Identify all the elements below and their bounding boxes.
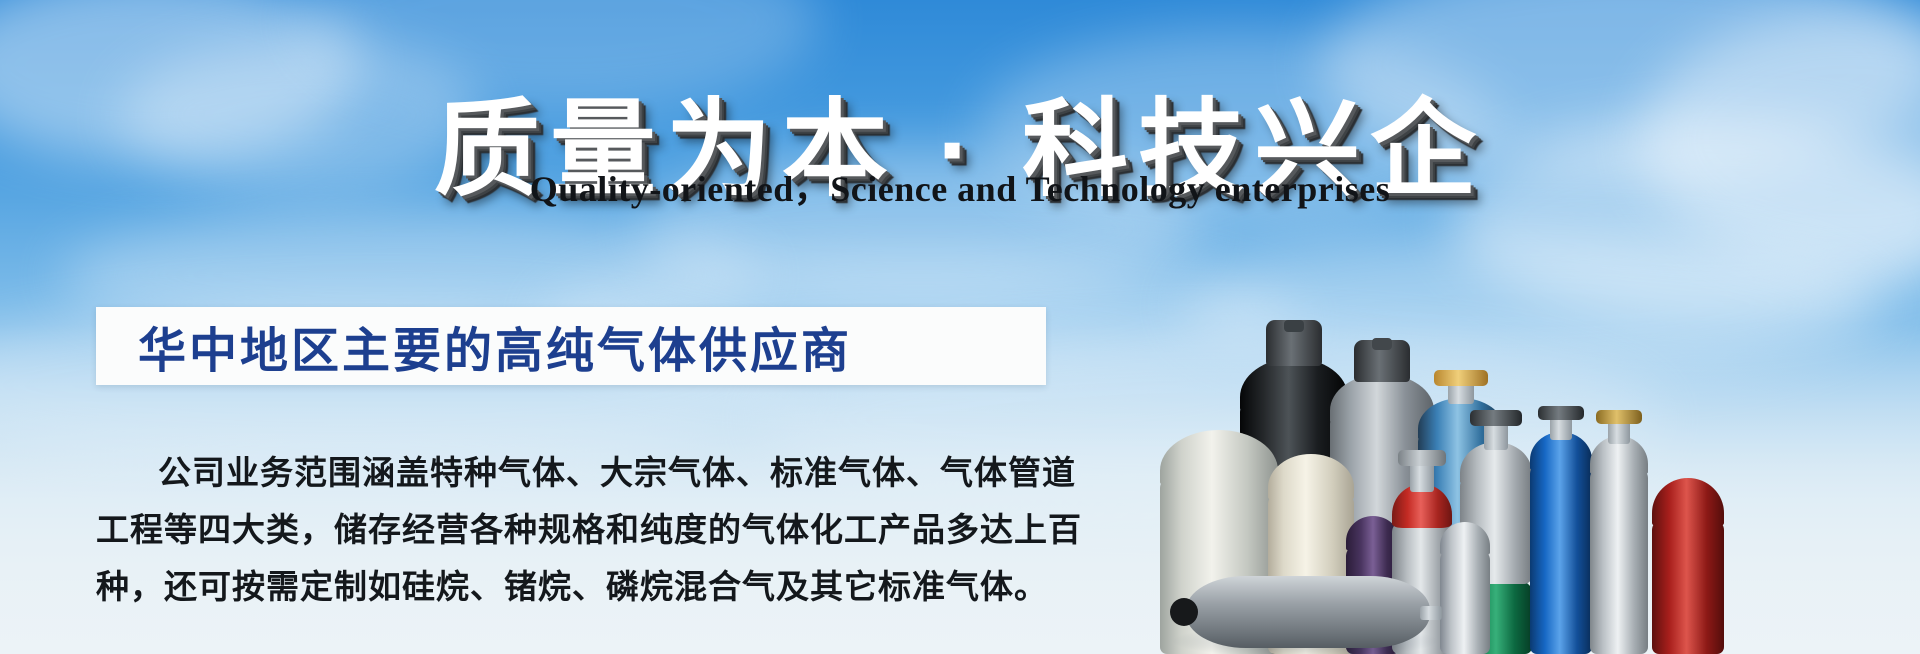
paragraph-line: 公司业务范围涵盖特种气体、大宗气体、标准气体、气体管道: [96, 446, 1056, 503]
dark-red-cylinder: [1652, 472, 1724, 654]
silver-aluminium-cylinder: [1590, 410, 1648, 654]
blue-bright-cylinder: [1530, 404, 1592, 654]
paragraph-line: 工程等四大类，储存经营各种规格和纯度的气体化工产品多达上百: [96, 503, 1056, 560]
description-paragraph: 公司业务范围涵盖特种气体、大宗气体、标准气体、气体管道 工程等四大类，储存经营各…: [96, 446, 1056, 617]
horizontal-grey-tank: [1170, 564, 1440, 654]
promotional-banner: 质量为本 · 科技兴企 Quality-oriented，Science and…: [0, 0, 1920, 654]
highlight-band-text: 华中地区主要的高纯气体供应商: [96, 311, 852, 381]
paragraph-line: 种，还可按需定制如硅烷、锗烷、磷烷混合气及其它标准气体。: [96, 560, 1056, 617]
page-subtitle: Quality-oriented，Science and Technology …: [530, 160, 1390, 212]
headline-container: 质量为本 · 科技兴企: [0, 22, 1920, 279]
highlight-band: 华中地区主要的高纯气体供应商: [96, 307, 1046, 385]
subheadline-container: Quality-oriented，Science and Technology …: [0, 160, 1920, 212]
silver-front-cylinder: [1440, 518, 1490, 654]
